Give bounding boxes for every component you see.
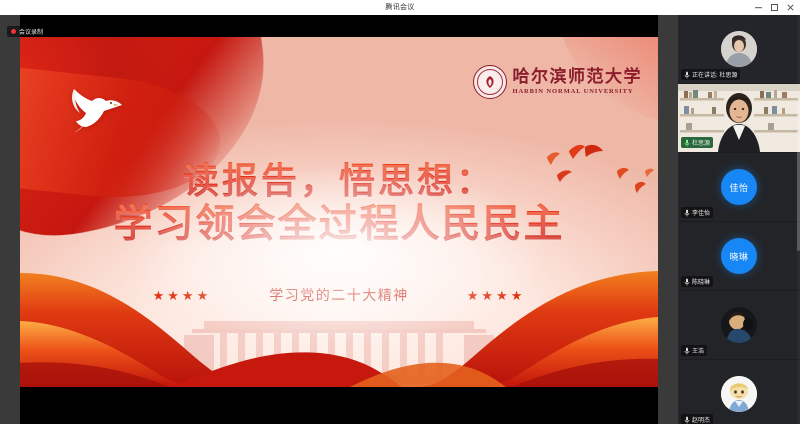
window-title: 腾讯会议 (385, 0, 414, 15)
dove-icon (56, 77, 134, 139)
slide-title-line2: 学习领会全过程人民民主 (20, 202, 658, 247)
recording-indicator: 会议录制 (7, 26, 47, 37)
participant-name: 李佳怡 (692, 208, 710, 217)
avatar: 佳怡 (721, 169, 757, 205)
window-controls (751, 0, 798, 15)
participant-name-chip: 王浩 (681, 345, 707, 356)
recording-label: 会议录制 (19, 27, 43, 36)
university-name-cn: 哈尔滨师范大学 (513, 69, 643, 86)
participant-tile[interactable]: 杜思源 (678, 84, 800, 152)
participant-name: 赵明杰 (692, 415, 710, 424)
mic-muted-icon (684, 278, 690, 286)
minimize-icon[interactable] (751, 0, 766, 15)
stage-left-letterbox (0, 15, 20, 424)
university-crest-icon (473, 65, 507, 99)
university-logo: 哈尔滨师范大学 HARBIN NORMAL UNIVERSITY (473, 65, 643, 99)
avatar (721, 307, 757, 343)
shared-screen-stage[interactable]: 哈尔滨师范大学 HARBIN NORMAL UNIVERSITY (0, 15, 678, 424)
stage-right-letterbox (658, 15, 678, 424)
participant-name: 杜思源 (692, 138, 710, 147)
participant-name-chip: 正在讲话: 杜思源 (681, 69, 740, 80)
participant-tile[interactable]: 王浩 (678, 291, 800, 359)
maximize-icon[interactable] (767, 0, 782, 15)
university-name-en: HARBIN NORMAL UNIVERSITY (513, 89, 643, 96)
participant-name: 陈晓琳 (692, 277, 710, 286)
participant-tile[interactable]: 佳怡 李佳怡 (678, 153, 800, 221)
participant-tile[interactable]: 晓琳 陈晓琳 (678, 222, 800, 290)
mic-muted-icon (684, 347, 690, 355)
participant-name-chip: 李佳怡 (681, 207, 713, 218)
participant-name-chip: 陈晓琳 (681, 276, 713, 287)
mic-muted-icon (684, 209, 690, 217)
participant-tile[interactable]: 正在讲话: 杜思源 (678, 15, 800, 83)
record-dot-icon (11, 29, 16, 34)
participant-rail[interactable]: 正在讲话: 杜思源 (678, 15, 800, 424)
slide-headline: 读报告，悟思想： 学习领会全过程人民民主 (20, 161, 658, 247)
red-wave-decoration (20, 267, 658, 387)
avatar: 晓琳 (721, 238, 757, 274)
participant-name: 正在讲话: 杜思源 (692, 70, 737, 79)
presentation-slide: 哈尔滨师范大学 HARBIN NORMAL UNIVERSITY (20, 37, 658, 387)
window-titlebar: 腾讯会议 (0, 0, 800, 15)
mic-active-icon (684, 139, 690, 147)
avatar (721, 31, 757, 67)
participant-name: 王浩 (692, 346, 704, 355)
slide-title-line1: 读报告，悟思想： (20, 161, 658, 202)
mic-muted-icon (684, 416, 690, 424)
avatar (721, 376, 757, 412)
meeting-window: 腾讯会议 (0, 0, 800, 424)
participant-name-chip: 赵明杰 (681, 414, 713, 424)
participant-tile[interactable]: 赵明杰 (678, 360, 800, 424)
close-icon[interactable] (783, 0, 798, 15)
mic-icon (684, 71, 690, 79)
participant-name-chip: 杜思源 (681, 137, 713, 148)
